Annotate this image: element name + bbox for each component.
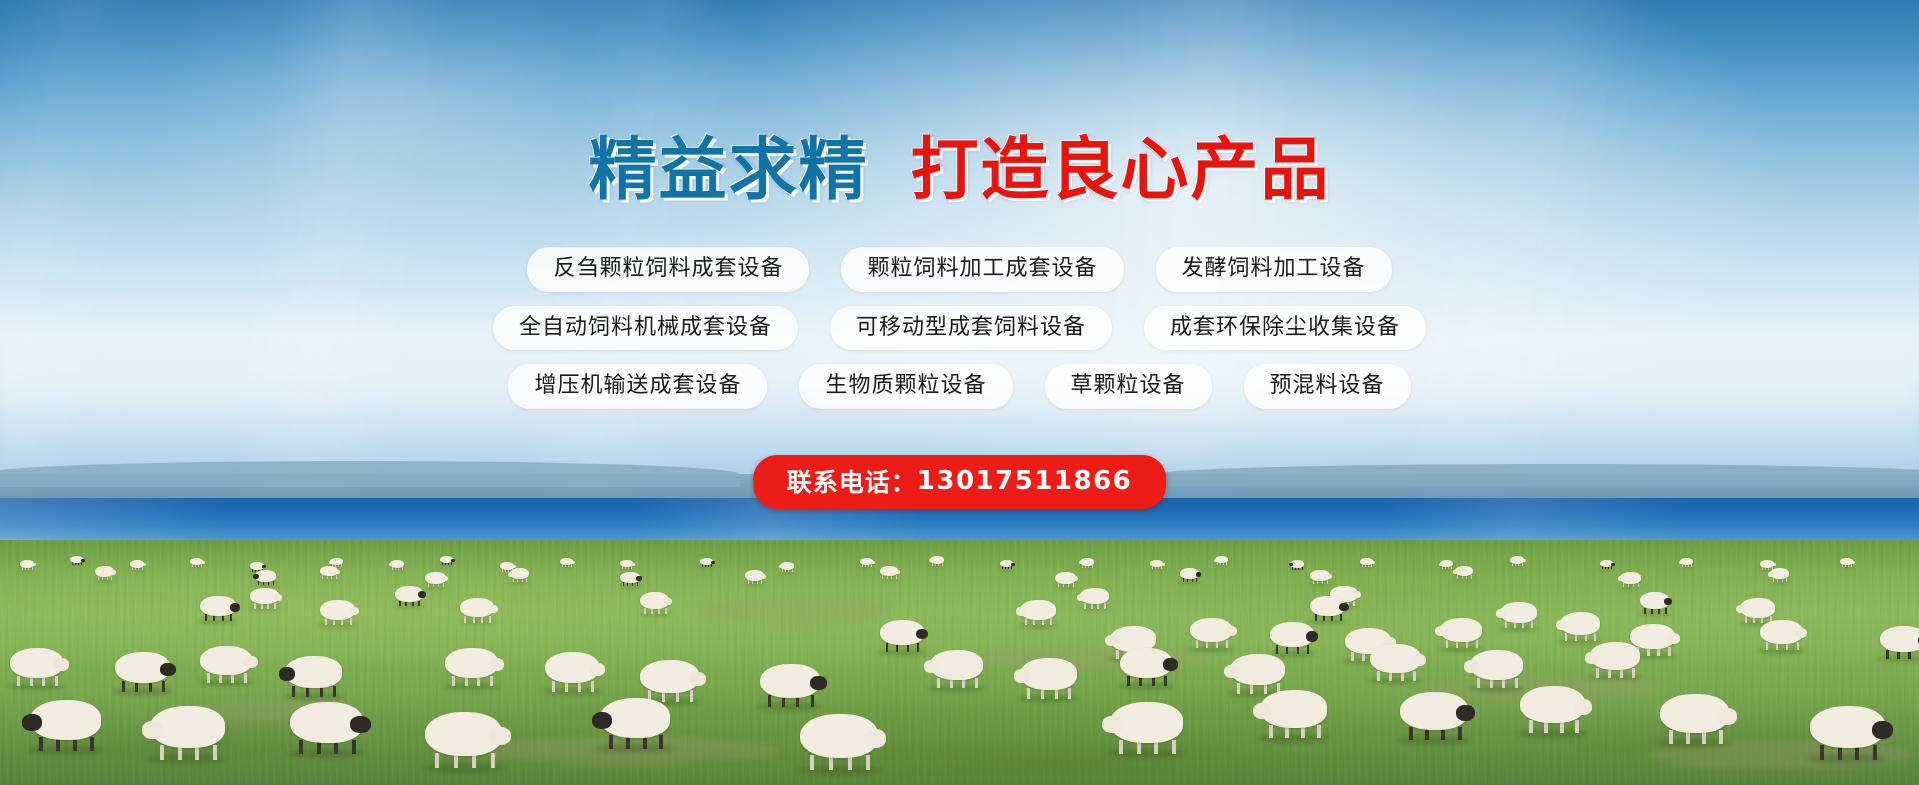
sheep-head <box>81 559 85 562</box>
sheep-leg <box>1446 640 1448 648</box>
sheep-leg <box>1413 671 1416 681</box>
sheep-leg <box>1638 583 1639 587</box>
sheep-leg <box>98 576 99 580</box>
sheep-head <box>262 565 266 568</box>
sheep <box>290 702 363 757</box>
sheep-head <box>1224 665 1240 678</box>
sheep-leg <box>292 686 295 697</box>
sheep-head <box>160 663 176 676</box>
sheep-leg <box>1050 618 1052 625</box>
sheep-leg <box>1237 683 1240 694</box>
sheep <box>745 570 764 585</box>
sheep-head <box>350 716 371 733</box>
sheep-head <box>508 572 513 577</box>
sheep-leg <box>90 737 94 751</box>
sheep <box>1440 618 1482 650</box>
sheep <box>440 556 453 566</box>
sheep-leg <box>39 737 43 751</box>
sheep-head <box>711 561 715 564</box>
sheep-leg <box>142 567 143 570</box>
sheep-leg <box>1269 725 1273 738</box>
sheep <box>320 600 355 627</box>
sheep-leg <box>325 618 327 625</box>
sheep-leg <box>55 676 58 686</box>
sheep-head <box>1016 607 1026 616</box>
sheep-head <box>279 667 295 681</box>
sheep-head <box>895 570 900 574</box>
sheep-leg <box>122 681 125 692</box>
sheep-leg <box>299 740 303 754</box>
sheep-head <box>1736 605 1746 613</box>
sheep-leg <box>17 676 20 686</box>
sheep-leg <box>490 676 493 686</box>
sheep <box>545 652 599 694</box>
sheep <box>1560 612 1600 643</box>
sheep-leg <box>1226 640 1228 648</box>
sheep-leg <box>1797 642 1799 650</box>
sheep <box>255 570 276 586</box>
product-tag[interactable]: 增压机输送成套设备 <box>508 364 767 409</box>
sheep-head <box>636 576 642 581</box>
sheep <box>150 706 225 763</box>
product-tag[interactable]: 发酵饲料加工设备 <box>1156 247 1392 292</box>
sheep-head <box>1105 635 1118 646</box>
sheep-leg <box>273 581 274 585</box>
sheep-leg <box>748 580 749 584</box>
sheep <box>320 566 338 580</box>
sheep-head <box>1214 559 1218 562</box>
sheep-leg <box>1745 616 1747 623</box>
sheep <box>1770 568 1789 583</box>
sheep-leg <box>1302 567 1303 570</box>
sheep-leg <box>623 582 624 586</box>
sheep-head <box>253 574 259 579</box>
sheep <box>1880 626 1919 661</box>
sheep-leg <box>1068 688 1071 699</box>
sheep-leg <box>886 643 888 652</box>
sheep-leg <box>1276 645 1278 654</box>
sheep <box>800 714 878 773</box>
sheep-leg <box>811 695 814 707</box>
sheep-head <box>1522 559 1526 562</box>
sheep-leg <box>160 745 164 760</box>
sheep-head <box>1585 652 1599 664</box>
sheep <box>1215 556 1228 566</box>
sheep-leg <box>768 695 771 707</box>
product-tag[interactable]: 反刍颗粒饲料成套设备 <box>527 247 809 292</box>
sheep-head <box>916 629 928 639</box>
sheep-head <box>1163 658 1178 671</box>
sheep-leg <box>1161 566 1162 569</box>
sheep-head <box>1496 609 1506 618</box>
sheep-leg <box>162 681 165 692</box>
sheep-leg <box>1565 633 1567 641</box>
sheep-head <box>592 712 612 729</box>
sheep-leg <box>1611 566 1612 569</box>
sheep-head <box>54 658 69 671</box>
sheep-leg <box>1515 678 1518 688</box>
sheep <box>760 664 820 710</box>
sheep-leg <box>418 601 420 606</box>
sheep-head <box>871 561 875 564</box>
sheep-leg <box>1084 603 1086 609</box>
sheep-leg <box>451 562 452 565</box>
sheep-leg <box>1531 621 1533 628</box>
sheep-leg <box>205 614 207 621</box>
sheep-leg <box>1315 614 1317 621</box>
sheep <box>1680 558 1693 568</box>
sheep-leg <box>1522 563 1523 566</box>
sheep-head <box>810 676 827 690</box>
sheep-leg <box>1851 564 1852 567</box>
contact-label: 联系电话： <box>787 468 917 497</box>
sheep <box>1270 622 1314 656</box>
sheep-leg <box>452 676 455 686</box>
sheep <box>1620 572 1641 588</box>
sheep-leg <box>111 576 112 580</box>
sheep-head <box>335 570 340 574</box>
sheep-leg <box>1351 652 1354 661</box>
sheep <box>1440 560 1453 570</box>
sheep-leg <box>491 753 495 768</box>
sheep-head <box>1611 563 1615 566</box>
sheep-head <box>1435 626 1447 636</box>
sheep-leg <box>609 735 613 749</box>
product-tag-row: 增压机输送成套设备生物质颗粒设备草颗粒设备预混料设备 <box>0 364 1919 409</box>
sheep-leg <box>1668 647 1671 656</box>
sheep-leg <box>1623 583 1624 587</box>
sheep-leg <box>81 562 82 565</box>
sheep-leg <box>443 583 444 587</box>
sheep-leg <box>665 608 667 614</box>
sheep <box>200 596 236 623</box>
sheep-leg <box>244 673 247 683</box>
sheep-body <box>1880 626 1919 652</box>
sheep-head <box>32 563 36 566</box>
product-tag[interactable]: 颗粒饲料加工成套设备 <box>841 247 1123 292</box>
sheep <box>1110 702 1183 757</box>
sheep-head <box>1664 598 1672 605</box>
sheep-head <box>349 607 359 615</box>
product-tag[interactable]: 草颗粒设备 <box>1045 364 1212 409</box>
sheep <box>930 556 944 567</box>
sheep <box>1020 600 1056 627</box>
sheep <box>1600 560 1613 570</box>
sheep-leg <box>1596 668 1599 678</box>
sheep-leg <box>1116 650 1119 659</box>
sheep <box>10 648 63 688</box>
sheep <box>20 560 34 571</box>
sheep <box>95 566 114 581</box>
sheep-leg <box>32 567 33 570</box>
sheep-head <box>201 561 205 564</box>
sheep-head <box>489 658 504 671</box>
sheep-leg <box>213 745 217 760</box>
sheep-leg <box>1313 580 1314 584</box>
sheep-leg <box>1766 642 1768 650</box>
sheep-head <box>329 561 333 564</box>
sheep-leg <box>1457 575 1458 579</box>
sheep-leg <box>917 643 919 652</box>
sheep <box>1290 560 1304 571</box>
sheep <box>640 592 669 615</box>
sheep-head <box>571 561 575 564</box>
sheep-leg <box>254 603 256 609</box>
sheep-head <box>1339 603 1349 611</box>
sheep-leg <box>711 564 712 567</box>
sheep-leg <box>464 616 466 623</box>
product-tag-row: 全自动饲料机械成套设备可移动型成套饲料设备成套环保除尘收集设备 <box>0 306 1919 351</box>
sheep-head <box>1079 561 1083 564</box>
sheep-leg <box>1594 633 1596 641</box>
sheep-leg <box>352 740 356 754</box>
sheep-leg <box>336 575 337 579</box>
sheep-head <box>418 591 426 598</box>
sheep-leg <box>1340 614 1342 621</box>
sheep-leg <box>810 755 814 770</box>
sheep-leg <box>571 564 572 567</box>
sheep <box>1370 644 1421 683</box>
sheep <box>880 620 924 654</box>
sheep-head <box>1795 628 1807 638</box>
sheep-leg <box>1665 608 1667 614</box>
sheep-leg <box>341 564 342 567</box>
sheep-head <box>243 656 258 668</box>
sheep <box>780 562 794 573</box>
headline: 精益求精打造良心产品 <box>0 137 1919 205</box>
sheep <box>460 598 494 624</box>
sheep <box>1760 620 1803 652</box>
sheep-leg <box>866 755 870 770</box>
product-tag[interactable]: 可移动型成套饲料设备 <box>830 306 1112 351</box>
sheep-leg <box>792 569 793 572</box>
sheep-leg <box>1471 575 1472 579</box>
sheep <box>560 558 573 568</box>
sheep <box>285 656 342 699</box>
sheep-leg <box>481 616 483 623</box>
sheep-leg <box>659 735 663 749</box>
sheep <box>1080 588 1109 610</box>
sheep-leg <box>1773 578 1774 582</box>
sheep-head <box>631 563 635 566</box>
sheep-head <box>1412 654 1426 666</box>
sheep-head <box>761 574 766 579</box>
sheep <box>445 648 498 688</box>
sheep-leg <box>896 575 897 579</box>
sheep <box>1520 686 1585 736</box>
headline-red-text: 打造良心产品 <box>911 131 1331 210</box>
sheep-head <box>1464 660 1479 673</box>
sheep-leg <box>644 608 646 614</box>
sheep-head <box>1667 633 1680 644</box>
dirt-patch <box>700 598 890 624</box>
sheep <box>1470 650 1523 690</box>
sheep-head <box>1371 561 1375 564</box>
sheep-leg <box>1058 583 1059 587</box>
promo-banner: 精益求精打造良心产品 反刍颗粒饲料成套设备颗粒饲料加工成套设备发酵饲料加工设备全… <box>0 0 1919 785</box>
sheep <box>1360 558 1373 568</box>
sheep <box>30 700 101 754</box>
sheep <box>1260 690 1327 741</box>
sheep-head <box>779 565 783 568</box>
sheep-leg <box>591 681 594 692</box>
sheep-leg <box>1786 578 1787 582</box>
sheep <box>425 712 502 771</box>
sheep-head <box>1072 576 1078 581</box>
sheep-leg <box>1458 727 1462 740</box>
sheep-head <box>142 563 146 566</box>
sheep-head <box>1161 563 1165 566</box>
sheep-head <box>1768 572 1773 577</box>
product-tag[interactable]: 预混料设备 <box>1244 364 1411 409</box>
sheep-head <box>1556 620 1567 630</box>
sheep-head <box>451 559 455 562</box>
sheep <box>1120 648 1172 688</box>
sheep-leg <box>1027 688 1030 699</box>
sheep <box>130 560 144 571</box>
sheep-head <box>1253 703 1272 719</box>
sheep-head <box>1225 626 1237 636</box>
sheep-leg <box>201 564 202 567</box>
sheep-leg <box>1164 676 1167 686</box>
sheep <box>390 560 404 571</box>
sheep <box>1400 692 1468 743</box>
sheep-head <box>142 721 163 739</box>
sheep <box>1055 572 1076 588</box>
sheep-leg <box>1127 676 1130 686</box>
product-tag-list: 反刍颗粒饲料成套设备颗粒饲料加工成套设备发酵饲料加工设备全自动饲料机械成套设备可… <box>0 247 1919 423</box>
sheep-leg <box>1691 564 1692 567</box>
contact-phone-number: 13017511866 <box>917 466 1133 496</box>
sheep-head <box>1196 572 1201 577</box>
headline-blue-text: 精益求精 <box>588 131 868 210</box>
sheep <box>1150 560 1163 570</box>
sheep-leg <box>975 678 978 688</box>
sheep-leg <box>230 614 232 621</box>
sheep <box>600 698 670 752</box>
product-tag[interactable]: 全自动饲料机械成套设备 <box>493 306 798 351</box>
sheep-leg <box>1353 601 1355 606</box>
sheep-head <box>1679 561 1683 564</box>
sheep-leg <box>207 673 210 683</box>
sheep-leg <box>1719 730 1723 744</box>
sheep-leg <box>1104 603 1106 609</box>
sheep-leg <box>428 583 429 587</box>
sheep-leg <box>1575 720 1579 733</box>
sheep-head <box>1772 563 1776 566</box>
sheep-leg <box>1226 562 1227 565</box>
sheep-head <box>1326 574 1332 579</box>
product-tag[interactable]: 成套环保除尘收集设备 <box>1144 306 1426 351</box>
sheep-leg <box>513 578 514 582</box>
sheep-head <box>929 559 933 562</box>
sheep-leg <box>1172 740 1176 754</box>
sheep <box>930 650 983 690</box>
sheep <box>620 572 640 587</box>
sheep-leg <box>1886 650 1889 659</box>
sheep-leg <box>322 575 323 579</box>
sheep-leg <box>1377 671 1380 681</box>
sheep <box>510 568 529 583</box>
sheep-leg <box>435 753 439 768</box>
sheep-leg <box>1669 730 1673 744</box>
sheep-leg <box>631 566 632 569</box>
sheep-leg <box>937 678 940 688</box>
sheep-head <box>924 660 939 673</box>
sheep-head <box>1353 591 1361 598</box>
sheep-leg <box>1505 621 1507 628</box>
sheep-head <box>274 594 282 601</box>
sheep-head <box>1872 721 1893 739</box>
sheep-leg <box>882 575 883 579</box>
sheep-leg <box>1092 565 1093 568</box>
sheep-leg <box>1025 618 1027 625</box>
sheep <box>620 560 633 570</box>
product-tag-row: 反刍颗粒饲料成套设备颗粒饲料加工成套设备发酵饲料加工设备 <box>0 247 1919 292</box>
sheep-head <box>689 672 706 686</box>
sheep <box>1590 642 1640 680</box>
sheep <box>700 558 713 568</box>
sheep <box>1500 602 1537 630</box>
sheep <box>1310 570 1330 585</box>
sheep <box>1455 566 1473 580</box>
sheep-leg <box>1119 740 1123 754</box>
sheep <box>190 558 203 568</box>
sheep-leg <box>1307 645 1309 654</box>
sheep-head <box>22 714 42 731</box>
sheep-head <box>389 563 393 566</box>
sheep-head <box>1453 570 1458 574</box>
sheep-head <box>1717 708 1737 725</box>
sheep <box>1180 568 1199 583</box>
sheep-leg <box>1317 725 1321 738</box>
sheep <box>1640 592 1669 615</box>
contact-phone-bar[interactable]: 联系电话：13017511866 <box>753 455 1167 509</box>
product-tag[interactable]: 生物质颗粒设备 <box>799 364 1012 409</box>
sheep-leg <box>402 567 403 570</box>
sheep-head <box>111 570 116 575</box>
sheep-head <box>489 727 511 745</box>
sheep-leg <box>637 582 638 586</box>
sheep-leg <box>1873 745 1877 760</box>
sheep-head <box>1077 594 1085 601</box>
sheep <box>1000 560 1013 570</box>
sheep-head <box>1011 563 1015 566</box>
sheep-leg <box>1011 566 1012 569</box>
sheep <box>1310 596 1345 623</box>
sheep <box>115 652 170 694</box>
sheep-head <box>1574 699 1592 715</box>
sheep-leg <box>1529 720 1533 733</box>
sheep-leg <box>1196 578 1197 582</box>
sheep <box>425 572 446 588</box>
sheep-head <box>442 576 448 581</box>
sheep-leg <box>761 580 762 584</box>
sheep-leg <box>1409 727 1413 740</box>
sheep-head <box>1439 563 1443 566</box>
sheep-leg <box>1327 580 1328 584</box>
sheep-leg <box>473 616 475 623</box>
sheep-leg <box>1183 578 1184 582</box>
sheep <box>1840 558 1853 568</box>
sheep-head <box>1102 716 1123 733</box>
sheep-head <box>1851 561 1855 564</box>
sheep-head <box>590 663 605 676</box>
sheep-leg <box>399 601 401 606</box>
sheep-leg <box>258 581 259 585</box>
sheep <box>880 566 898 580</box>
sheep <box>1510 556 1524 567</box>
